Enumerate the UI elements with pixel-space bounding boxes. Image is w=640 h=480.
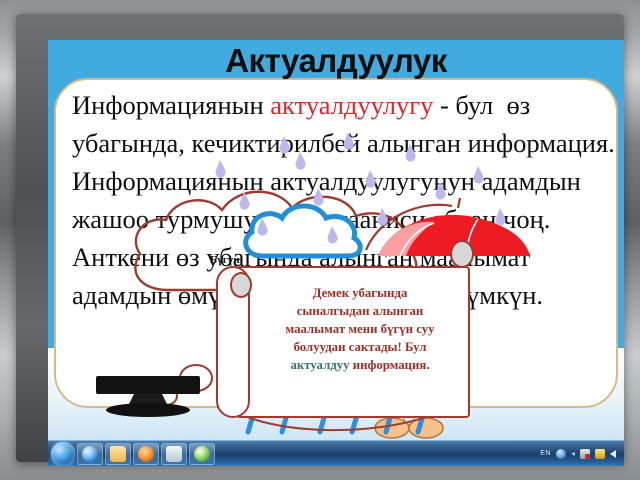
taskbar-item-browser[interactable] — [189, 443, 215, 465]
callout-line-3: маалымат мени бүгүн суу — [285, 322, 434, 336]
ie-icon — [82, 446, 98, 462]
callout-highlight: актуалдуу — [290, 358, 349, 372]
callout-right-knob — [450, 240, 474, 268]
taskbar-item-internet-explorer[interactable] — [77, 443, 103, 465]
slide-title: Актуалдуулук — [48, 42, 624, 80]
callout-line-1: Демек убагында — [313, 286, 408, 300]
monitor-screen: Информациянын актуалдуулугу - бул өз уба… — [48, 40, 624, 466]
callout-left-roll — [216, 266, 250, 418]
presentation-slide[interactable]: Информациянын актуалдуулугу - бул өз уба… — [48, 40, 624, 440]
callout-text: Демек убагында сыналгыдан алынган маалым… — [254, 284, 466, 374]
taskbar-item-media-player[interactable] — [133, 443, 159, 465]
cloud-label: Бүгүн — [210, 254, 240, 266]
volume-icon[interactable] — [610, 450, 616, 458]
callout-line-5-rest: информация. — [350, 358, 430, 372]
app-icon — [166, 446, 182, 462]
monitor-bezel: Информациянын актуалдуулугу - бул өз уба… — [16, 14, 624, 462]
callout-line-4: болуудан сактады! Бул — [294, 340, 427, 354]
windows-taskbar[interactable]: EN ◂ — [48, 440, 624, 466]
action-center-icon[interactable] — [556, 449, 566, 459]
network-icon[interactable] — [580, 449, 590, 459]
tray-separator[interactable]: ◂ — [571, 449, 575, 458]
language-indicator[interactable]: EN — [540, 450, 551, 457]
folder-icon — [110, 446, 126, 462]
taskbar-item-application[interactable] — [161, 443, 187, 465]
globe-icon — [194, 446, 210, 462]
desktop-frame: Информациянын актуалдуулугу - бул өз уба… — [0, 0, 640, 480]
media-player-icon — [138, 446, 154, 462]
body-text-part-0: Информациянын — [72, 90, 270, 120]
callout-line-2: сыналгыдан алынган — [297, 304, 424, 318]
body-text-part-1: актуалдуулугу — [270, 90, 433, 120]
taskbar-item-windows-explorer[interactable] — [105, 443, 131, 465]
system-tray[interactable]: EN ◂ — [540, 449, 624, 459]
scroll-callout: Демек убагында сыналгыдан алынган маалым… — [208, 266, 470, 418]
callout-left-knob — [230, 272, 252, 298]
start-button-orb[interactable] — [51, 442, 75, 466]
security-shield-icon[interactable] — [595, 449, 605, 459]
